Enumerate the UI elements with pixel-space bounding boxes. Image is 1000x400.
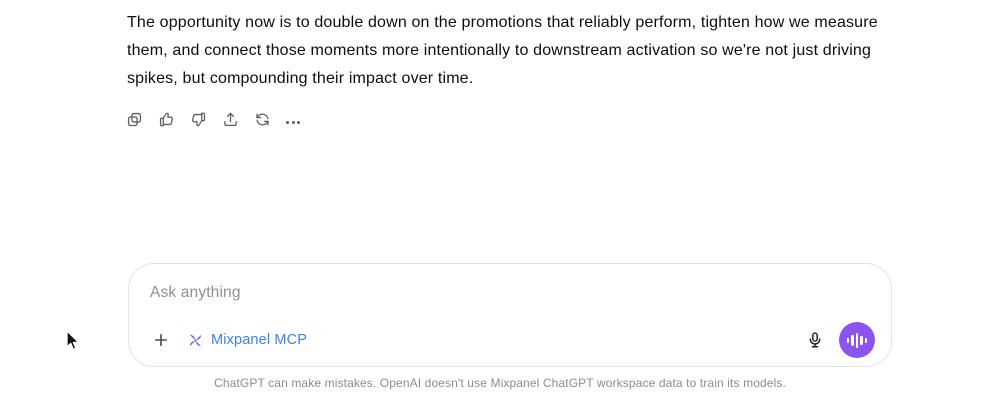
footer-disclaimer: ChatGPT can make mistakes. OpenAI doesn'… <box>0 376 1000 390</box>
microphone-icon <box>806 331 824 349</box>
thumbs-down-icon <box>190 111 207 128</box>
regenerate-icon <box>254 111 271 128</box>
thumbs-down-button[interactable] <box>190 106 222 132</box>
more-options-icon <box>286 112 300 127</box>
thumbs-up-icon <box>158 111 175 128</box>
share-button[interactable] <box>222 106 254 132</box>
voice-mode-button[interactable] <box>839 322 875 358</box>
waveform-icon <box>847 332 867 348</box>
plus-icon <box>152 331 170 349</box>
mixpanel-logo-icon <box>187 332 204 349</box>
add-attachment-button[interactable] <box>147 326 175 354</box>
assistant-message-text: The opportunity now is to double down on… <box>127 9 883 93</box>
composer-input[interactable]: Ask anything <box>150 284 241 302</box>
regenerate-button[interactable] <box>254 106 286 132</box>
message-composer[interactable]: Ask anything <box>128 263 892 367</box>
share-icon <box>222 111 239 128</box>
dictate-button[interactable] <box>800 325 830 355</box>
more-options-button[interactable] <box>286 106 318 132</box>
thumbs-up-button[interactable] <box>158 106 190 132</box>
mixpanel-mcp-label: Mixpanel MCP <box>211 332 307 348</box>
composer-toolbar: Mixpanel MCP <box>129 314 891 366</box>
copy-icon <box>126 111 143 128</box>
mouse-pointer-cursor <box>66 330 82 352</box>
mixpanel-mcp-connector-button[interactable]: Mixpanel MCP <box>183 330 311 351</box>
copy-button[interactable] <box>126 106 158 132</box>
assistant-message: The opportunity now is to double down on… <box>127 9 883 93</box>
message-action-bar <box>126 106 318 132</box>
